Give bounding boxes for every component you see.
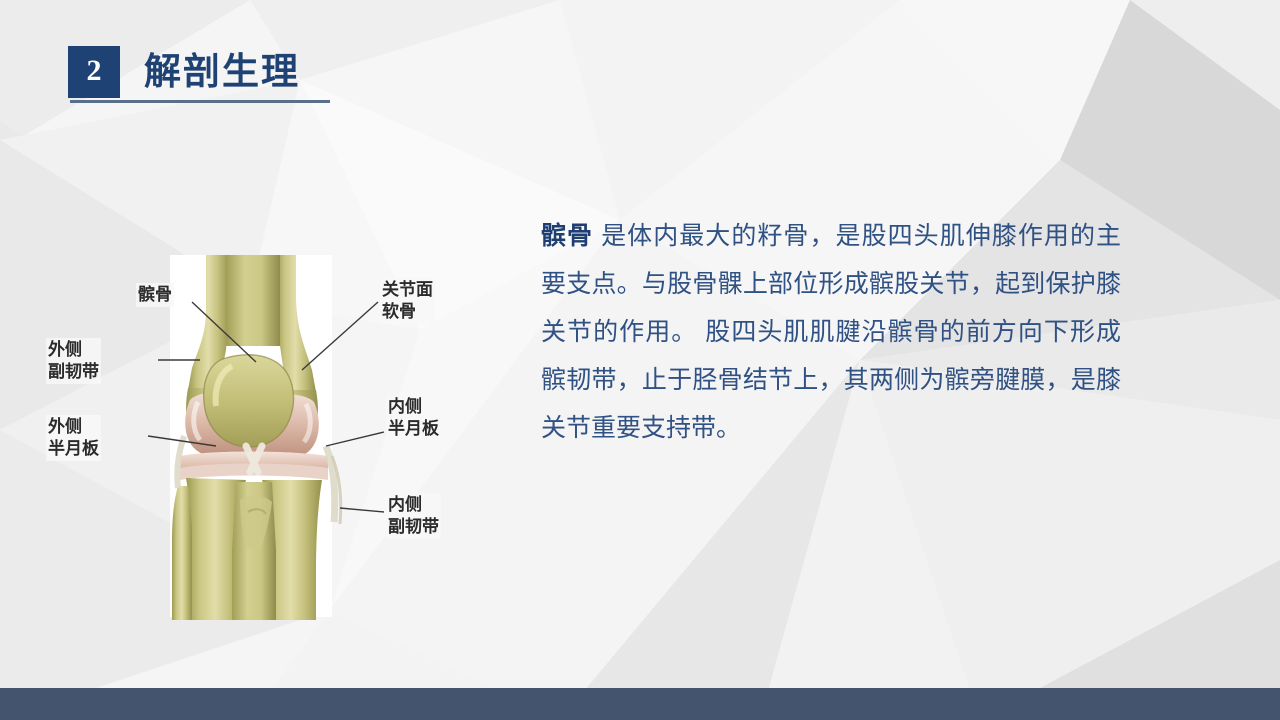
figure-label-lateral-collateral-ligament: 外侧 副韧带 [46,338,101,384]
body-paragraph-text: 是体内最大的籽骨，是股四头肌伸膝作用的主要支点。与股骨髁上部位形成髌股关节，起到… [541,222,1121,442]
figure-label-articular-cartilage: 关节面 软骨 [380,278,435,324]
page-title: 解剖生理 [144,46,300,98]
figure-label-lat-menis-line2: 半月板 [48,439,99,458]
figure-label-med-lig-line2: 副韧带 [388,517,439,536]
figure-label-art-cartil-line2: 软骨 [382,302,416,321]
figure-label-lat-lig-line1: 外侧 [48,340,82,359]
figure-label-art-cartil-line1: 关节面 [382,280,433,299]
figure-label-lat-menis-line1: 外侧 [48,417,82,436]
figure-label-lateral-meniscus: 外侧 半月板 [46,415,101,461]
figure-label-lat-lig-line2: 副韧带 [48,362,99,381]
body-paragraph: 髌骨 是体内最大的籽骨，是股四头肌伸膝作用的主要支点。与股骨髁上部位形成髌股关节… [541,212,1121,452]
figure-label-medial-collateral-ligament: 内侧 副韧带 [386,493,441,539]
figure-label-med-lig-line1: 内侧 [388,495,422,514]
lead-term: 髌骨 [541,222,593,250]
figure-label-patella-line1: 髌骨 [138,285,172,304]
slide-canvas: 2 解剖生理 [0,0,1280,720]
figure-label-patella: 髌骨 [136,283,174,307]
figure-label-med-menis-line1: 内侧 [388,397,422,416]
title-underline [70,100,330,103]
section-number-text: 2 [87,56,102,88]
figure-label-medial-meniscus: 内侧 半月板 [386,395,441,441]
knee-anatomy-figure: 髌骨 外侧 副韧带 外侧 半月板 关节面 软骨 内侧 半月板 内侧 副韧带 [40,250,490,620]
section-number-badge: 2 [68,46,120,98]
slide-header: 2 解剖生理 [68,46,300,98]
figure-label-med-menis-line2: 半月板 [388,419,439,438]
footer-bar [0,688,1280,720]
